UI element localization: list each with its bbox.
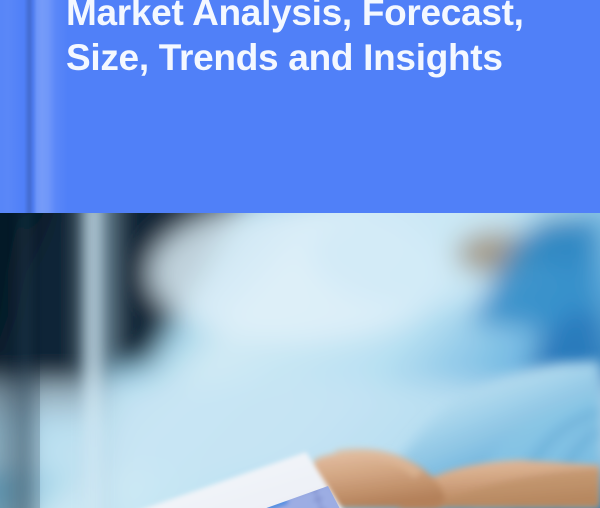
hero-card: Market Analysis, Forecast, Size, Trends …	[0, 0, 600, 508]
page-title: Market Analysis, Forecast, Size, Trends …	[66, 0, 576, 80]
hero-banner: Market Analysis, Forecast, Size, Trends …	[0, 0, 600, 213]
hero-photo	[0, 213, 600, 508]
tablet-photo-illustration	[0, 213, 600, 508]
